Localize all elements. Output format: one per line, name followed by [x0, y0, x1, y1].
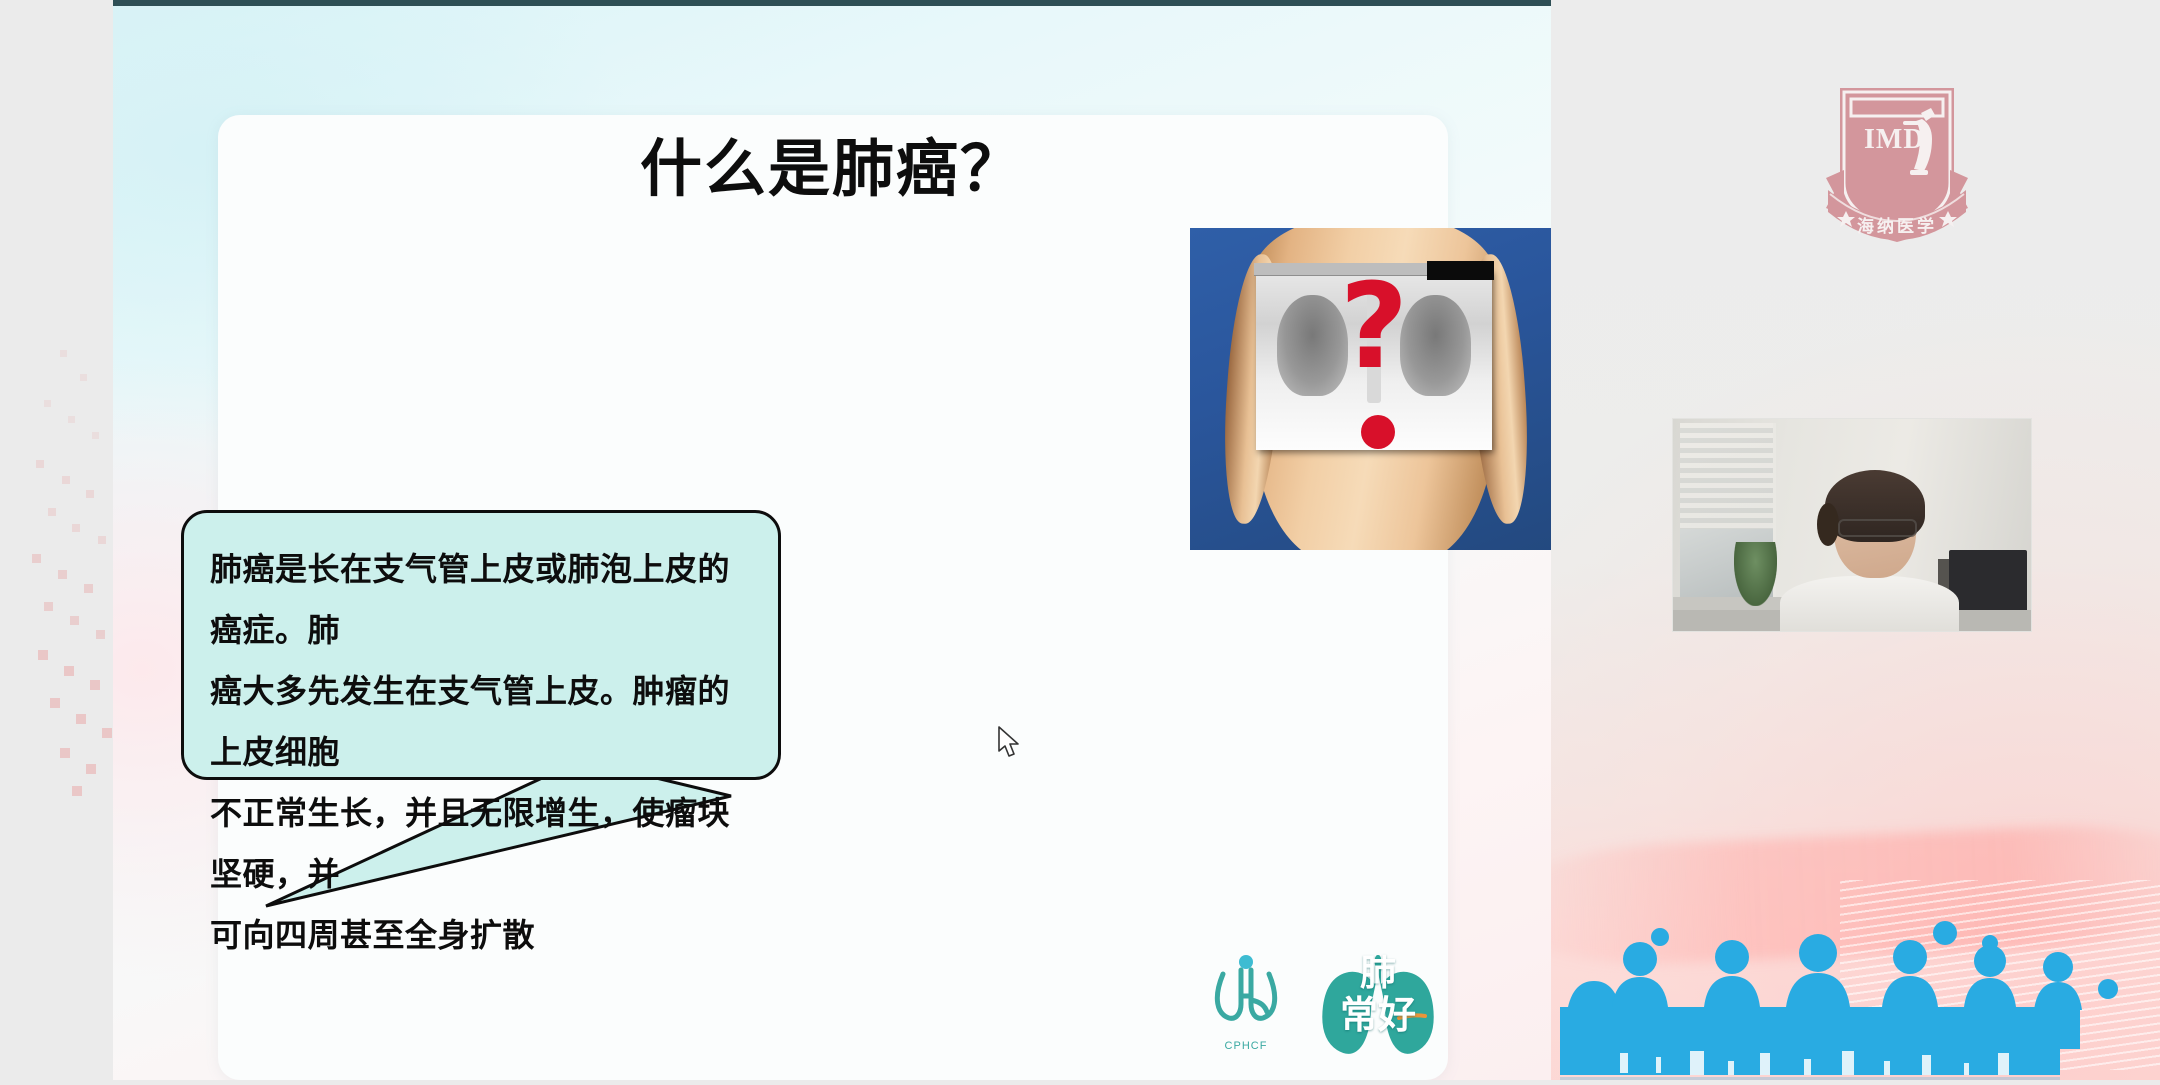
- screen-root: 什么是肺癌？ ? 肺癌是长在支气管上皮或肺泡上皮的癌症。肺 癌大多先: [0, 0, 2160, 1080]
- svg-text:海纳医学: 海纳医学: [1857, 216, 1937, 237]
- dot-pattern-decoration: [14, 340, 124, 820]
- imd-shield-logo: IMD 海纳医学: [1804, 66, 1990, 252]
- cphcf-logo: CPHCF: [1203, 952, 1289, 1052]
- webcam-blinds: [1680, 423, 1773, 529]
- presenter-webcam[interactable]: [1672, 418, 2032, 632]
- chest-xray-photo: ?: [1190, 228, 1551, 550]
- bubble-line-3: 不正常生长，并且无限增生，使瘤块坚硬，并: [210, 783, 752, 905]
- webcam-plant: [1734, 542, 1777, 606]
- conference-silhouette: [1560, 915, 2160, 1080]
- page-title: 什么是肺癌？: [113, 118, 1551, 208]
- slide-top-border: [113, 0, 1551, 6]
- feichanghao-line-1: 肺: [1313, 954, 1443, 994]
- bubble-line-1: 肺癌是长在支气管上皮或肺泡上皮的癌症。肺: [210, 539, 752, 661]
- cphcf-caption: CPHCF: [1203, 1040, 1289, 1052]
- webcam-glasses-icon: [1838, 519, 1917, 538]
- footer-logo-group: CPHCF 肺 常好: [1203, 948, 1463, 1060]
- mouse-pointer: [997, 726, 1023, 760]
- bubble-line-2: 癌大多先发生在支气管上皮。肿瘤的上皮细胞: [210, 661, 752, 783]
- bubble-line-4: 可向四周甚至全身扩散: [210, 905, 752, 966]
- feichanghao-text: 肺 常好: [1313, 954, 1443, 1062]
- feichanghao-line-2: 常好: [1313, 994, 1443, 1036]
- question-mark-icon: ?: [1190, 267, 1551, 385]
- feichanghao-logo: 肺 常好: [1313, 948, 1443, 1056]
- webcam-white-coat: [1780, 576, 1959, 632]
- speech-bubble: 肺癌是长在支气管上皮或肺泡上皮的癌症。肺 癌大多先发生在支气管上皮。肿瘤的上皮细…: [181, 510, 781, 780]
- speech-bubble-group: 肺癌是长在支气管上皮或肺泡上皮的癌症。肺 癌大多先发生在支气管上皮。肿瘤的上皮细…: [181, 510, 801, 900]
- presentation-slide[interactable]: 什么是肺癌？ ? 肺癌是长在支气管上皮或肺泡上皮的癌症。肺 癌大多先: [113, 0, 1551, 1080]
- svg-text:IMD: IMD: [1864, 124, 1925, 155]
- webcam-laptop: [1949, 550, 2028, 614]
- question-mark-dot-icon: [1361, 415, 1395, 449]
